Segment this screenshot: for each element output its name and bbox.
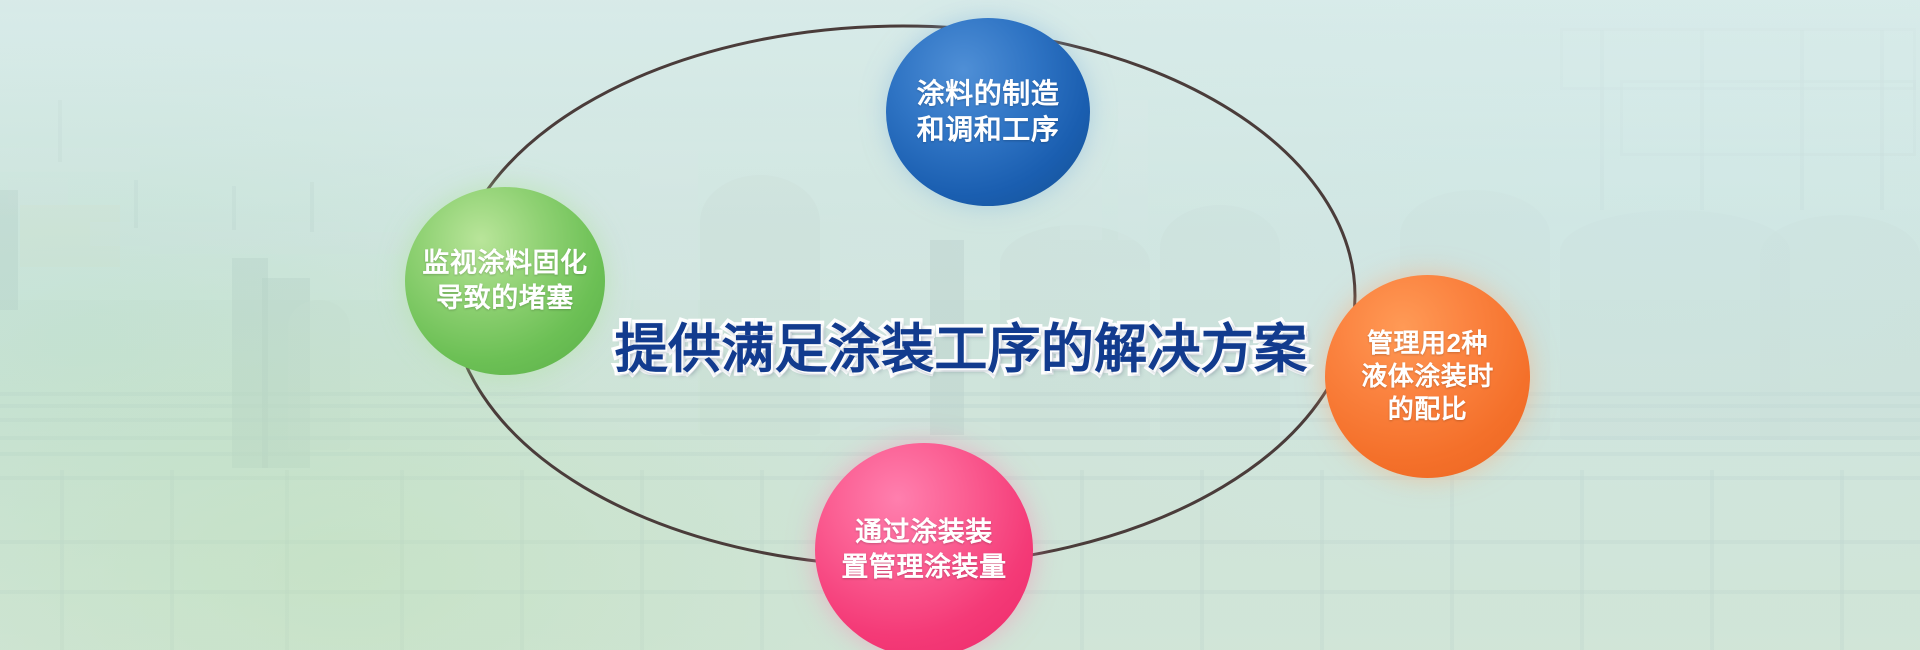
cycle-node-label-line: 涂料的制造 [917, 76, 1060, 112]
cycle-node-label-line: 和调和工序 [917, 112, 1060, 148]
coating-solution-banner: 涂料的制造 和调和工序 监视涂料固化 导致的堵塞 管理用2种 液体涂装时 的配比… [0, 0, 1920, 650]
cycle-node-label-line: 的配比 [1388, 393, 1468, 426]
cycle-node-coating-volume-management[interactable]: 通过涂装装 置管理涂装量 [815, 443, 1033, 650]
cycle-node-curing-clog-monitoring[interactable]: 监视涂料固化 导致的堵塞 [405, 187, 605, 375]
cycle-node-label-line: 液体涂装时 [1361, 360, 1494, 393]
cycle-node-two-liquid-ratio-management[interactable]: 管理用2种 液体涂装时 的配比 [1325, 275, 1530, 478]
cycle-node-label-line: 导致的堵塞 [436, 281, 574, 316]
cycle-node-paint-manufacturing[interactable]: 涂料的制造 和调和工序 [886, 18, 1090, 206]
cycle-node-label-line: 置管理涂装量 [841, 550, 1006, 585]
cycle-node-label-line: 通过涂装装 [855, 515, 993, 550]
banner-headline: 提供满足涂装工序的解决方案 [625, 305, 1297, 385]
cycle-node-label-line: 监视涂料固化 [422, 246, 587, 281]
cycle-node-label-line: 管理用2种 [1367, 327, 1488, 360]
